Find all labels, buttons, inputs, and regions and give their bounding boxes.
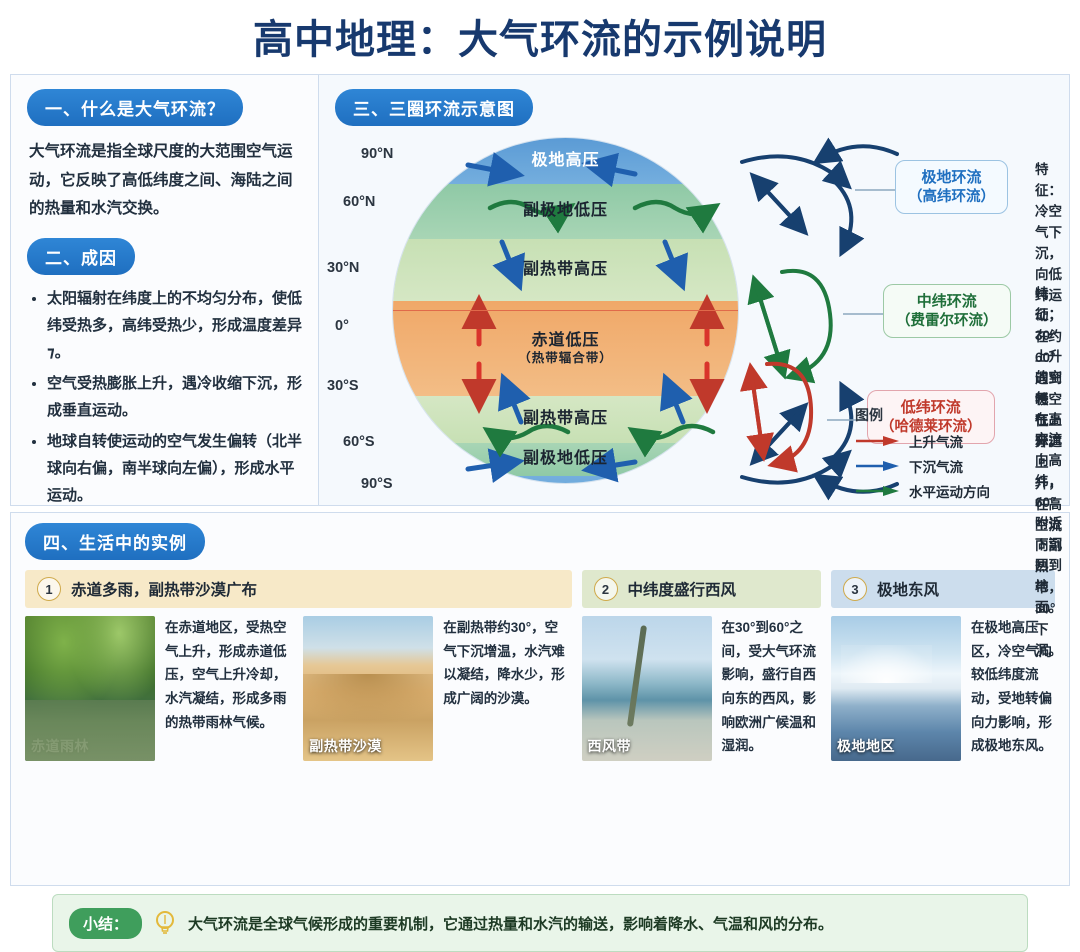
example-photo: 副热带沙漠 <box>303 616 433 761</box>
example-card: 1赤道多雨，副热带沙漠广布赤道雨林在赤道地区，受热空气上升，形成赤道低压，空气上… <box>25 570 572 761</box>
cell-alias-polar: （高纬环流） <box>908 188 995 207</box>
legend-item: 下沉气流 <box>855 456 1045 476</box>
latitude-label: 30°N <box>327 260 359 276</box>
legend-item: 水平运动方向 <box>855 481 1045 501</box>
section4-badge: 四、生活中的实例 <box>25 523 205 560</box>
example-header: 1赤道多雨，副热带沙漠广布 <box>25 570 572 608</box>
examples-list: 1赤道多雨，副热带沙漠广布赤道雨林在赤道地区，受热空气上升，形成赤道低压，空气上… <box>25 570 1055 761</box>
example-item: 西风带在30°到60°之间，受大气环流影响，盛行自西向东的西风，影响欧洲广候温和… <box>582 616 821 761</box>
latitude-label: 90°N <box>361 146 393 162</box>
example-photo: 极地地区 <box>831 616 961 761</box>
section1-badge: 一、什么是大气环流？ <box>27 89 243 126</box>
section2-badge: 二、成因 <box>27 238 135 275</box>
summary-badge: 小结： <box>69 908 142 939</box>
legend: 图例 上升气流下沉气流水平运动方向 <box>855 405 1045 506</box>
cell-box-ferrel: 中纬环流 （费雷尔环流） <box>883 284 1011 338</box>
example-item: 极地地区在极地高压区，冷空气向较低纬度流动，受地转偏向力影响，形成极地东风。 <box>831 616 1055 761</box>
section3-badge: 三、三圈环流示意图 <box>335 89 533 126</box>
lightbulb-icon <box>154 909 176 937</box>
example-number: 1 <box>37 577 61 601</box>
band-label: 副热带高压 <box>523 261 608 279</box>
cell-box-polar: 极地环流 （高纬环流） <box>895 160 1008 214</box>
latitude-label: 60°N <box>343 194 375 210</box>
examples-panel: 四、生活中的实例 1赤道多雨，副热带沙漠广布赤道雨林在赤道地区，受热空气上升，形… <box>10 512 1070 886</box>
band-label: 副极地低压 <box>523 450 608 468</box>
hadley-cell-loop <box>751 364 811 464</box>
latitude-label: 60°S <box>343 434 375 450</box>
example-title: 赤道多雨，副热带沙漠广布 <box>71 578 257 600</box>
diagram-panel: 三、三圈环流示意图 90°N60°N30°N0°30°S60°S90°S 极地高… <box>318 74 1070 506</box>
circulation-diagram: 90°N60°N30°N0°30°S60°S90°S 极地高压副极地低压副热带高… <box>335 132 1053 508</box>
example-photo: 西风带 <box>582 616 712 761</box>
example-body: 西风带在30°到60°之间，受大气环流影响，盛行自西向东的西风，影响欧洲广候温和… <box>582 616 821 761</box>
ferrel-cell-loop <box>755 271 831 376</box>
legend-items: 上升气流下沉气流水平运动方向 <box>855 431 1045 501</box>
band-label: 副极地低压 <box>523 202 608 220</box>
photo-caption: 极地地区 <box>837 736 895 756</box>
list-item: 太阳辐射在纬度上的不均匀分布，使低纬受热多，高纬受热少，形成温度差异⁊。 <box>47 285 302 366</box>
example-header: 3极地东风 <box>831 570 1055 608</box>
summary-bar: 小结： 大气环流是全球气候形成的重要机制，它通过热量和水汽的输送，影响着降水、气… <box>52 894 1028 952</box>
pressure-band: 极地高压 <box>393 138 738 184</box>
legend-arrow-icon <box>855 485 901 497</box>
legend-arrow-icon <box>855 460 901 472</box>
photo-caption: 副热带沙漠 <box>309 736 382 756</box>
page-title: 高中地理：大气环流的示例说明 <box>0 0 1080 74</box>
globe-graphic: 极地高压副极地低压副热带高压赤道低压（热带辐合带）副热带高压副极地低压极地高压 <box>393 138 738 483</box>
definition-panel: 一、什么是大气环流？ 大气环流是指全球尺度的大范围空气运动，它反映了高低纬度之间… <box>10 74 318 506</box>
band-sublabel: （热带辐合带） <box>518 351 613 365</box>
example-photo: 赤道雨林 <box>25 616 155 761</box>
legend-label: 上升气流 <box>909 431 963 451</box>
section1-text: 大气环流是指全球尺度的大范围空气运动，它反映了高低纬度之间、海陆之间的热量和水汽… <box>29 138 300 224</box>
list-item: 地球自转使运动的空气发生偏转（北半球向右偏，南半球向左偏），形成水平运动。 <box>47 428 302 509</box>
example-number: 3 <box>843 577 867 601</box>
polar-cell-loop-north <box>742 146 897 250</box>
band-label: 极地高压 <box>531 152 599 170</box>
summary-text: 大气环流是全球气候形成的重要机制，它通过热量和水汽的输送，影响着降水、气温和风的… <box>188 913 833 934</box>
photo-caption: 赤道雨林 <box>31 736 89 756</box>
legend-label: 下沉气流 <box>909 456 963 476</box>
latitude-label: 30°S <box>327 378 359 394</box>
latitude-label: 0° <box>335 318 349 334</box>
pressure-band: 副热带高压 <box>393 396 738 443</box>
cell-name-ferrel: 中纬环流 <box>917 293 977 310</box>
legend-item: 上升气流 <box>855 431 1045 451</box>
pressure-band: 副极地低压 <box>393 184 738 239</box>
list-item: 空气受热膨胀上升，遇冷收缩下沉，形成垂直运动。 <box>47 370 302 424</box>
top-section: 一、什么是大气环流？ 大气环流是指全球尺度的大范围空气运动，它反映了高低纬度之间… <box>10 74 1070 506</box>
band-label: 赤道低压（热带辐合带） <box>518 332 613 365</box>
pressure-band: 赤道低压（热带辐合带） <box>393 301 738 396</box>
example-number: 2 <box>594 577 618 601</box>
example-card: 3极地东风极地地区在极地高压区，冷空气向较低纬度流动，受地转偏向力影响，形成极地… <box>831 570 1055 761</box>
example-body: 赤道雨林在赤道地区，受热空气上升，形成赤道低压，空气上升冷却，水汽凝结，形成多雨… <box>25 616 572 761</box>
example-description: 在30°到60°之间，受大气环流影响，盛行自西向东的西风，影响欧洲广候温和湿润。 <box>722 616 821 761</box>
cell-alias-ferrel: （费雷尔环流） <box>896 312 998 331</box>
example-title: 极地东风 <box>877 578 939 600</box>
pressure-band: 极地高压 <box>393 476 738 483</box>
example-item: 赤道雨林在赤道地区，受热空气上升，形成赤道低压，空气上升冷却，水汽凝结，形成多雨… <box>25 616 293 761</box>
photo-caption: 西风带 <box>588 736 632 756</box>
example-header: 2中纬度盛行西风 <box>582 570 821 608</box>
example-item: 副热带沙漠在副热带约30°，空气下沉增温，水汽难以凝结，降水少，形成广阔的沙漠。 <box>303 616 571 761</box>
example-body: 极地地区在极地高压区，冷空气向较低纬度流动，受地转偏向力影响，形成极地东风。 <box>831 616 1055 761</box>
latitude-label: 90°S <box>361 476 393 492</box>
cell-name-polar: 极地环流 <box>921 169 981 186</box>
infographic-page: 高中地理：大气环流的示例说明 一、什么是大气环流？ 大气环流是指全球尺度的大范围… <box>0 0 1080 864</box>
equator-line <box>393 310 738 311</box>
example-title: 中纬度盛行西风 <box>628 578 737 600</box>
legend-title: 图例 <box>855 405 1045 425</box>
example-description: 在副热带约30°，空气下沉增温，水汽难以凝结，降水少，形成广阔的沙漠。 <box>443 616 571 761</box>
pressure-band: 副热带高压 <box>393 239 738 301</box>
example-card: 2中纬度盛行西风西风带在30°到60°之间，受大气环流影响，盛行自西向东的西风，… <box>582 570 821 761</box>
band-label: 副热带高压 <box>523 410 608 428</box>
legend-label: 水平运动方向 <box>909 481 990 501</box>
legend-arrow-icon <box>855 435 901 447</box>
cause-list: 太阳辐射在纬度上的不均匀分布，使低纬受热多，高纬受热少，形成温度差异⁊。 空气受… <box>27 285 302 509</box>
example-description: 在赤道地区，受热空气上升，形成赤道低压，空气上升冷却，水汽凝结，形成多雨的热带雨… <box>165 616 293 761</box>
pressure-band: 副极地低压 <box>393 443 738 476</box>
